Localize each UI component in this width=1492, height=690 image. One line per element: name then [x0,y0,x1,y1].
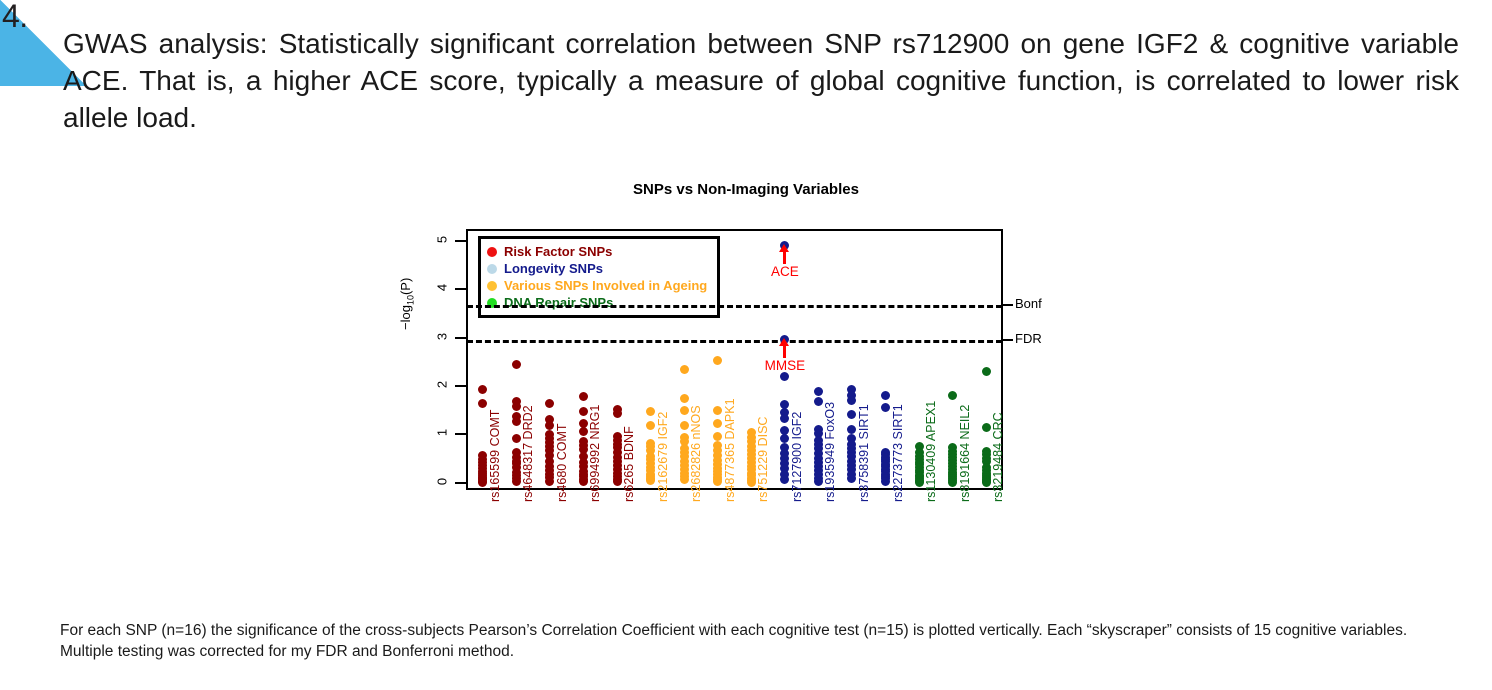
data-point [982,367,991,376]
y-tick-mark [455,240,466,242]
data-point [478,478,487,487]
x-tick-label: rs4680 COMT [555,424,569,503]
x-tick-label: rs6994992 NRG1 [588,405,602,502]
x-tick-label: rs1935949 FoxO3 [823,402,837,502]
x-tick-label: rs2682826 nNOS [689,405,703,502]
legend-item: Longevity SNPs [487,260,707,277]
data-point [579,427,588,436]
figure-caption: For each SNP (n=16) the significance of … [60,620,1445,662]
headline-text: GWAS analysis: Statistically significant… [63,25,1459,136]
legend-dot-icon [487,247,497,257]
x-tick-label: rs8191664 NEIL2 [958,405,972,502]
data-point [646,475,655,484]
x-tick-label: rs2273773 SIRT1 [891,404,905,502]
annotation-arrow-icon [783,345,786,358]
legend-item: DNA Repair SNPs [487,294,707,311]
y-tick-mark [455,433,466,435]
y-tick-label: 1 [435,423,450,443]
x-tick-label: rs4648317 DRD2 [521,405,535,502]
x-tick-label: rs3758391 SIRT1 [857,404,871,502]
x-tick-label: rs7127900 IGF2 [790,412,804,502]
threshold-line [467,305,1002,308]
x-tick-label: rs751229 DISC [756,417,770,502]
data-point [680,394,689,403]
y-axis-label: −log10(P) [398,278,416,330]
y-tick-mark [455,385,466,387]
threshold-tick [1003,339,1013,341]
threshold-tick [1003,304,1013,306]
legend-dot-icon [487,281,497,291]
data-point [646,407,655,416]
data-point [613,477,622,486]
data-point [680,475,689,484]
data-point [915,478,924,487]
x-tick-label: rs1130409 APEX1 [924,401,938,502]
data-point [747,478,756,487]
data-point [680,421,689,430]
y-tick-mark [455,337,466,339]
y-tick-label: 0 [435,471,450,491]
annotation-arrow-icon [783,251,786,264]
data-point [512,434,521,443]
legend-item-label: Various SNPs Involved in Ageing [504,278,707,293]
y-tick-label: 2 [435,375,450,395]
annotation-label: ACE [771,264,799,279]
legend-item-label: Risk Factor SNPs [504,244,612,259]
threshold-label: Bonf [1015,296,1042,311]
y-tick-label: 3 [435,326,450,346]
y-tick-label: 5 [435,230,450,250]
data-point [680,365,689,374]
data-point [982,423,991,432]
annotation-label: MMSE [765,358,806,373]
data-point [613,409,622,418]
legend-item-label: Longevity SNPs [504,261,603,276]
legend-item: Risk Factor SNPs [487,243,707,260]
data-point [948,478,957,487]
legend-item: Various SNPs Involved in Ageing [487,277,707,294]
data-point [579,407,588,416]
headline-span: GWAS analysis: Statistically significant… [63,28,1459,133]
threshold-line [467,340,1002,343]
y-tick-mark [455,482,466,484]
x-tick-label: rs6265 BDNF [622,426,636,502]
legend-dot-icon [487,264,497,274]
y-tick-mark [455,288,466,290]
data-point [512,477,521,486]
data-point [881,477,890,486]
x-tick-label: rs2162679 IGF2 [656,412,670,502]
x-tick-label: rs4877365 DAPK1 [723,398,737,502]
figure: SNPs vs Non-Imaging Variables −log10(P) … [0,170,1492,615]
x-tick-label: rs3219484 CRC [991,412,1005,502]
threshold-label: FDR [1015,331,1042,346]
slide: 4. GWAS analysis: Statistically signific… [0,0,1492,690]
chart-title: SNPs vs Non-Imaging Variables [0,181,1492,198]
data-point [814,387,823,396]
data-point [814,397,823,406]
slide-number: 4. [2,0,28,35]
data-point [680,406,689,415]
data-point [982,478,991,487]
y-tick-label: 4 [435,278,450,298]
data-point [512,402,521,411]
data-point [512,360,521,369]
data-point [814,477,823,486]
x-tick-label: rs165599 COMT [488,410,502,502]
